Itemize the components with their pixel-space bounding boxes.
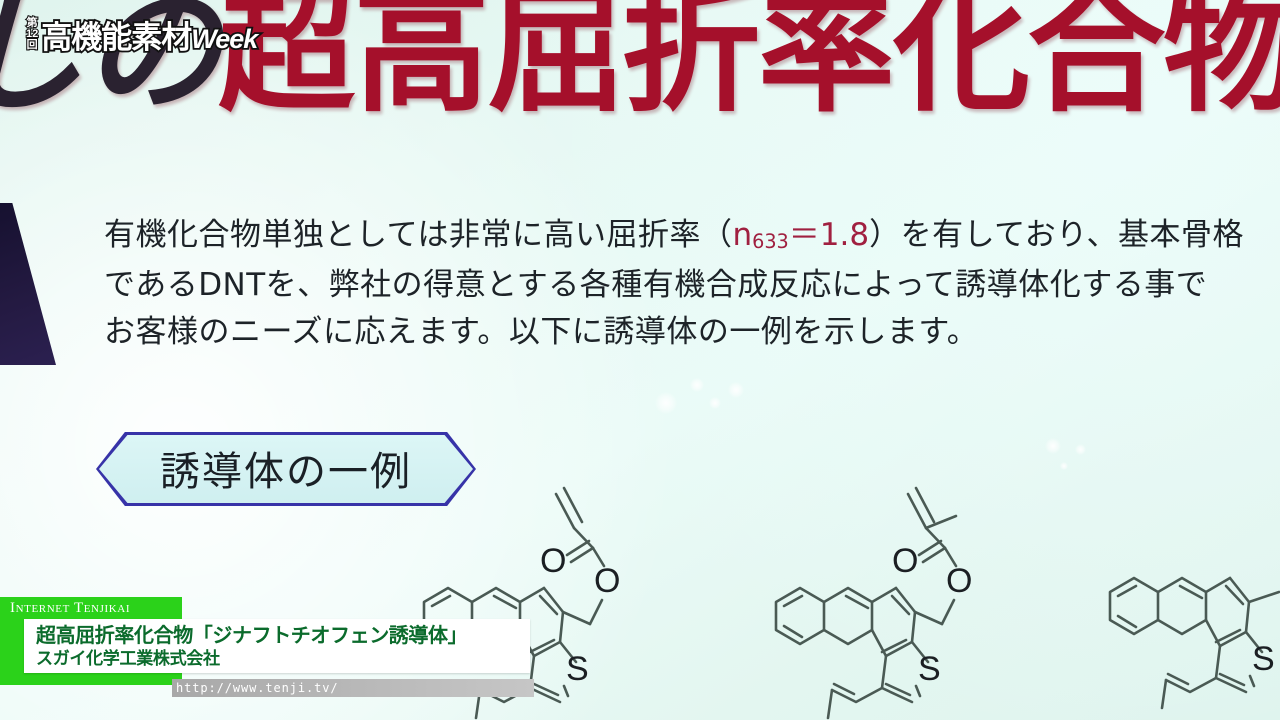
carbonyl-oxygen-label: O	[892, 542, 918, 580]
refractive-index-value: n633＝1.8	[732, 217, 869, 253]
lower-ring-fragment	[832, 688, 882, 702]
lower-third-tab: Internet Tenjikai	[0, 597, 182, 619]
ring-extension-double	[892, 596, 909, 614]
event-ordinal: 第 12 回	[26, 18, 38, 51]
ester-oxygen-label: O	[594, 562, 620, 600]
chemical-structure-methacrylate: O O S	[740, 480, 1060, 720]
headline-main-text: 超高屈折率化合物	[218, 0, 1280, 128]
ring-extension-2	[1230, 578, 1249, 602]
event-name-jp: 高機能素材	[41, 20, 191, 55]
carbonyl-oxygen-label: O	[540, 542, 566, 580]
ring-down-bond	[912, 612, 915, 642]
video-frame: しの超高屈折率化合物 第 12 回 高機能素材Week 有機化合物単独としては非…	[0, 0, 1280, 720]
ring-down-bond	[560, 612, 563, 642]
lower-third-url: http://www.tenji.tv/	[176, 681, 339, 695]
body-line-pre: 有機化合物単独としては非常に高い屈折率（	[104, 217, 732, 253]
chemical-structure-partial: S	[1074, 520, 1280, 720]
body-line: であるDNTを、弊社の得意とする各種有機合成反応によって誘導体化する事で	[104, 262, 1280, 309]
ester-oxygen-label: O	[946, 562, 972, 600]
event-name-en: Week	[191, 24, 257, 54]
o-ch2-bond	[942, 600, 954, 624]
ch2-ring-bond	[563, 612, 590, 624]
thiophene-lower-double	[1220, 674, 1244, 685]
sulfur-label: S	[566, 650, 589, 688]
n-equals-value: ＝1.8	[789, 217, 869, 253]
lower-third-tab-label: Internet Tenjikai	[10, 600, 130, 617]
o-ch2-bond	[590, 600, 602, 624]
ring-extension-double	[540, 596, 557, 614]
ring-extension-2	[544, 588, 563, 612]
body-line: お客様のニーズに応えます。以下に誘導体の一例を示します。	[104, 309, 1280, 356]
event-name: 高機能素材Week	[41, 12, 257, 57]
lower-ring-edge	[1162, 680, 1166, 708]
sulfur-label: S	[1252, 640, 1275, 678]
ch2-ring-bond	[915, 612, 942, 624]
n-subscript: 633	[752, 230, 789, 253]
lower-ring-fragment	[1166, 678, 1216, 692]
body-line-post: ）を有しており、基本骨格	[869, 217, 1244, 253]
ring-down-bond	[1246, 602, 1249, 632]
lower-third-company: スガイ化学工業株式会社	[36, 648, 530, 670]
thiophene-lower-double	[534, 684, 558, 695]
lower-third-panel: 超高屈折率化合物「ジナフトチオフェン誘導体」 スガイ化学工業株式会社	[24, 619, 530, 673]
ring-extension-2	[896, 588, 915, 612]
slide-body-text: 有機化合物単独としては非常に高い屈折率（n633＝1.8）を有しており、基本骨格…	[104, 212, 1280, 356]
sulfur-label: S	[918, 650, 941, 688]
lower-ring-edge	[828, 690, 832, 718]
benzene-inner-bonds	[1118, 586, 1136, 627]
event-watermark-logo: 第 12 回 高機能素材Week	[26, 12, 257, 57]
n-symbol: n	[732, 217, 752, 253]
ordinal-char-kai: 回	[27, 40, 38, 51]
lower-third-title: 超高屈折率化合物「ジナフトチオフェン誘導体」	[36, 622, 530, 648]
lower-third-url-bar[interactable]: http://www.tenji.tv/	[172, 679, 534, 697]
body-line: 有機化合物単独としては非常に高い屈折率（n633＝1.8）を有しており、基本骨格	[104, 212, 1280, 262]
thiophene-fusion-bond	[1206, 620, 1220, 646]
ring-extension-double	[1226, 586, 1243, 604]
ch2-bond	[1249, 592, 1279, 602]
thiophene-fusion-bond	[872, 630, 886, 656]
benzene-inner-bonds	[784, 596, 802, 637]
thiophene-lower-double	[886, 684, 910, 695]
